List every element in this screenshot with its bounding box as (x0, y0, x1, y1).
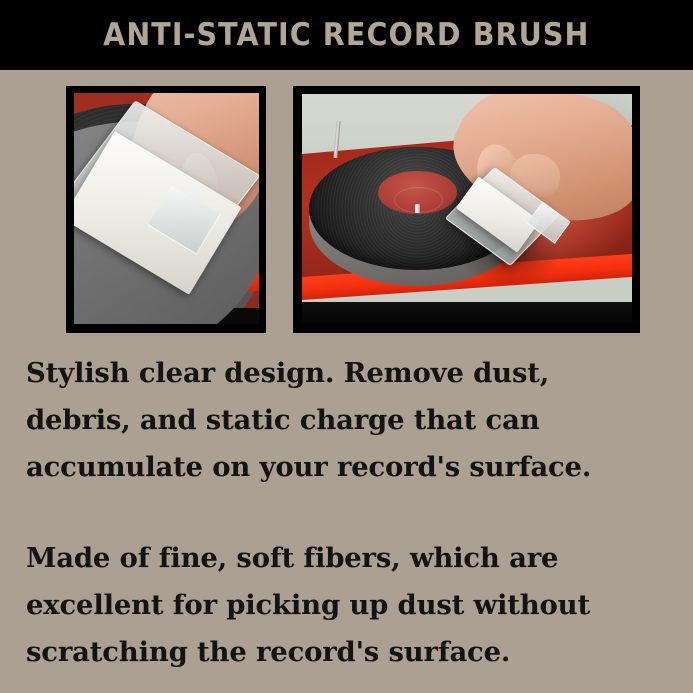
feature-paragraph-design: Stylish clear design. Remove dust, debri… (26, 350, 671, 491)
product-infographic: ANTI-STATIC RECORD BRUSH (0, 0, 693, 693)
photo-brush-closeup-on-record (66, 86, 266, 333)
page-title: ANTI-STATIC RECORD BRUSH (103, 17, 589, 53)
body-copy: Stylish clear design. Remove dust, debri… (26, 350, 671, 676)
photo-left-inner (74, 93, 259, 324)
turntable-closeup-scene (74, 93, 259, 324)
header-bar: ANTI-STATIC RECORD BRUSH (0, 0, 693, 70)
turntable-wide-scene (302, 94, 632, 323)
spindle (415, 204, 420, 214)
base-shadow (302, 302, 632, 323)
photo-right-inner (302, 94, 632, 323)
photo-row (0, 86, 693, 333)
photo-brush-on-turntable-wide (293, 86, 640, 333)
feature-paragraph-fibers: Made of fine, soft fibers, which are exc… (26, 535, 671, 676)
